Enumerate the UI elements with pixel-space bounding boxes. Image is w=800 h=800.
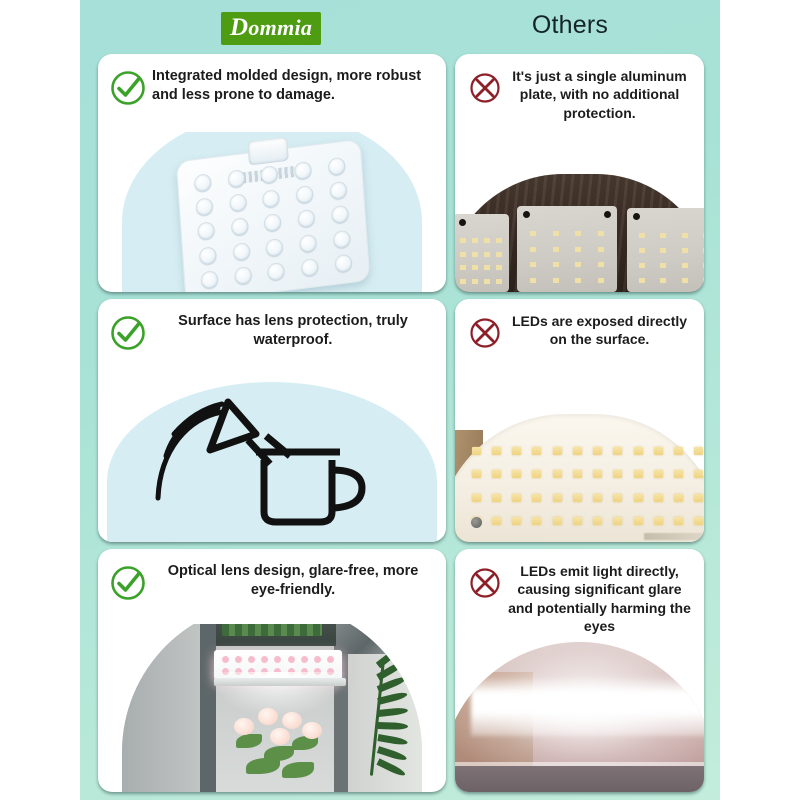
- led-chip-grid: [467, 440, 704, 532]
- brand-rest: ommia: [248, 15, 312, 40]
- aluminum-plate: [455, 214, 509, 292]
- con-card-row3: LEDs emit light directly, causing signif…: [455, 549, 704, 792]
- bright-glare-photo: [455, 640, 704, 792]
- brand-logo: Dommia: [221, 12, 321, 45]
- board-printed-marking: [644, 533, 704, 540]
- pro-caption-text: Optical lens design, glare-free, more ey…: [148, 561, 434, 600]
- led-pcb-surface: [455, 414, 704, 542]
- surface-base: [455, 766, 704, 792]
- exposed-led-board-photo: [455, 410, 704, 542]
- others-title: Others: [450, 11, 690, 40]
- con-caption-text: It's just a single aluminum plate, with …: [505, 66, 692, 122]
- caption-row: LEDs emit light directly, causing signif…: [455, 549, 704, 636]
- check-circle-icon: [108, 313, 148, 353]
- fern-plant: [354, 656, 410, 776]
- glare-surface: [455, 642, 704, 792]
- pro-card-row3: Optical lens design, glare-free, more ey…: [98, 549, 446, 792]
- comparison-infographic: Dommia Others Integrated molded design, …: [0, 0, 800, 800]
- cross-circle-icon: [465, 313, 505, 353]
- brand-initial: D: [230, 14, 248, 41]
- led-chip-grid: [522, 226, 612, 288]
- cross-circle-icon: [465, 68, 505, 108]
- con-caption-text: LEDs are exposed directly on the surface…: [505, 311, 692, 349]
- watering-can-illustration: [98, 372, 446, 542]
- mount-holes: [633, 213, 704, 221]
- aluminum-plates-on-wood-photo: [455, 172, 704, 292]
- grow-shelf-scene: [122, 624, 422, 792]
- upper-plants: [222, 624, 322, 636]
- caption-row: Surface has lens protection, truly water…: [98, 299, 446, 353]
- caption-row: LEDs are exposed directly on the surface…: [455, 299, 704, 353]
- led-chip-grid: [632, 228, 704, 288]
- led-lens-panel-photo: [98, 132, 446, 292]
- check-circle-icon: [108, 68, 148, 108]
- watering-can-graphic: [98, 382, 446, 542]
- pro-card-row1: Integrated molded design, more robust an…: [98, 54, 446, 292]
- grow-light-shelf-photo: [98, 624, 446, 792]
- led-lens-grid: [186, 153, 361, 292]
- comparison-grid: Integrated molded design, more robust an…: [80, 46, 720, 800]
- shelf-edge: [214, 678, 346, 686]
- con-caption-text: LEDs emit light directly, causing signif…: [505, 561, 692, 636]
- con-card-row2: LEDs are exposed directly on the surface…: [455, 299, 704, 542]
- caption-row: Optical lens design, glare-free, more ey…: [98, 549, 446, 603]
- check-circle-icon: [108, 563, 148, 603]
- mount-holes: [459, 219, 503, 227]
- header: Dommia Others: [80, 0, 720, 48]
- cross-circle-icon: [465, 563, 505, 603]
- caption-row: It's just a single aluminum plate, with …: [455, 54, 704, 122]
- mount-holes: [523, 211, 611, 219]
- flowering-plant: [230, 700, 334, 792]
- caption-row: Integrated molded design, more robust an…: [98, 54, 446, 108]
- con-card-row1: It's just a single aluminum plate, with …: [455, 54, 704, 292]
- pro-card-row2: Surface has lens protection, truly water…: [98, 299, 446, 542]
- board-screw-hole: [471, 517, 482, 528]
- aluminum-plate: [517, 206, 617, 292]
- mirror-panel: [336, 624, 414, 654]
- pro-caption-text: Surface has lens protection, truly water…: [148, 311, 434, 350]
- wall-left: [122, 624, 200, 792]
- aluminum-plate: [627, 208, 704, 292]
- led-chip-grid: [458, 234, 504, 288]
- pro-caption-text: Integrated molded design, more robust an…: [148, 66, 434, 105]
- led-panel-graphic: [176, 139, 371, 292]
